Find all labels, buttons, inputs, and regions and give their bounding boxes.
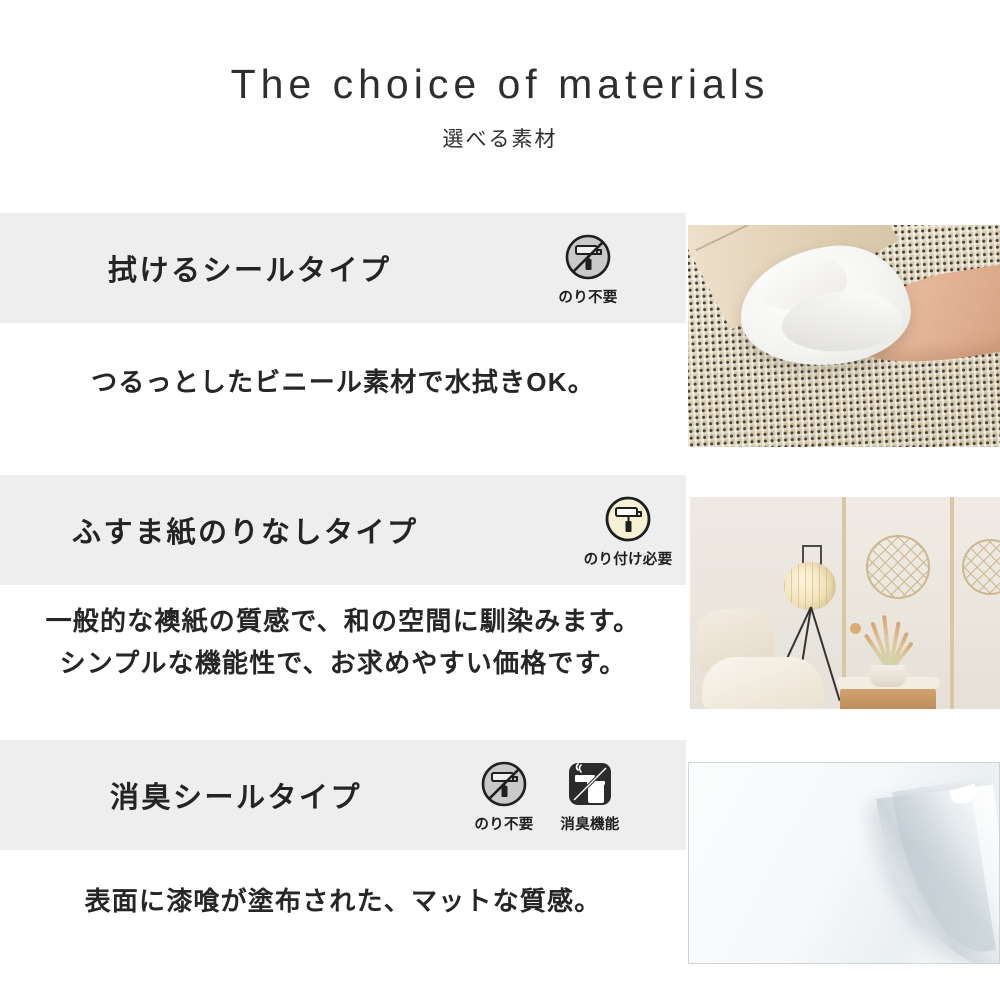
page-header: The choice of materials 選べる素材 xyxy=(0,0,1000,153)
glue-required-roller-icon xyxy=(603,495,653,545)
deodorizing-function-icon xyxy=(565,760,615,810)
badge-label: のり不要 xyxy=(474,813,533,834)
badge-group: のり不要 消臭機能 xyxy=(468,756,626,834)
description-line: 一般的な襖紙の質感で、和の空間に馴染みます。 xyxy=(0,600,686,642)
photo-hand-wiping-rattan-surface-with-white-towel xyxy=(688,225,1000,447)
badge-no-glue: のり不要 xyxy=(552,233,624,307)
paper-scene xyxy=(689,763,999,963)
badge-group: のり付け必要 xyxy=(592,491,664,569)
badge-glue-required: のり付け必要 xyxy=(592,495,664,569)
photo-white-paper-sheet-with-curled-edge xyxy=(688,762,1000,964)
description-line: つるっとしたビニール素材で水拭きOK。 xyxy=(0,361,686,403)
badge-no-glue: のり不要 xyxy=(468,760,540,834)
section-title: 消臭シールタイプ xyxy=(110,774,362,816)
badge-label: 消臭機能 xyxy=(560,813,619,834)
description-line: 表面に漆喰が塗布された、マットな質感。 xyxy=(0,880,686,922)
room-scene xyxy=(690,497,1000,709)
section-title: ふすま紙のりなしタイプ xyxy=(72,509,419,551)
section-description: つるっとしたビニール素材で水拭きOK。 xyxy=(0,361,686,403)
badge-deodorizing: 消臭機能 xyxy=(554,760,626,834)
paper-lantern-shade xyxy=(784,562,836,610)
badge-label: のり不要 xyxy=(558,286,617,307)
circular-lattice-motif xyxy=(866,535,930,599)
armchair-seat xyxy=(702,657,824,709)
badge-group: のり不要 xyxy=(552,229,624,307)
pampas-grass xyxy=(856,609,926,671)
section-title: 拭けるシールタイプ xyxy=(108,247,392,289)
section-description: 一般的な襖紙の質感で、和の空間に馴染みます。 シンプルな機能性で、お求めやすい価… xyxy=(0,600,686,684)
photo-japanese-room-with-fusuma-chair-and-lantern-lamp xyxy=(690,497,1000,709)
ceramic-plant-pot xyxy=(870,665,906,687)
page-subtitle: 選べる素材 xyxy=(0,107,1000,153)
no-glue-roller-icon xyxy=(479,760,529,810)
fusuma-panel xyxy=(950,497,1000,709)
page-title: The choice of materials xyxy=(0,0,1000,107)
section-description: 表面に漆喰が塗布された、マットな質感。 xyxy=(0,880,686,922)
badge-label: のり付け必要 xyxy=(584,548,673,569)
description-line: シンプルな機能性で、お求めやすい価格です。 xyxy=(0,642,686,684)
no-glue-roller-icon xyxy=(563,233,613,283)
